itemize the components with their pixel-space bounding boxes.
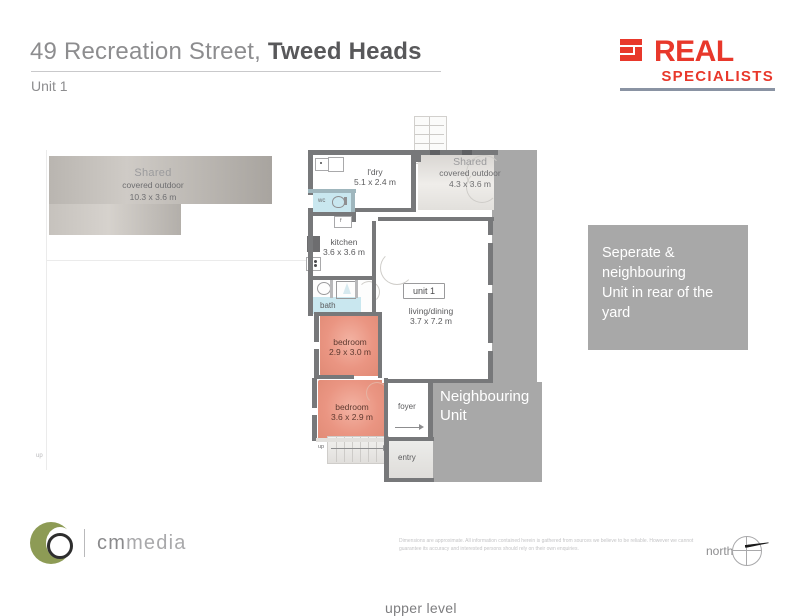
cmmedia-word-b: media [126,532,186,554]
title-street: 49 Recreation Street, [30,38,261,65]
brand-tagline: SPECIALISTS [620,68,775,85]
page-title: 49 Recreation Street, Tweed Heads [30,38,422,66]
cmmedia-mark-icon [30,522,72,564]
real-specialists-logo: REAL SPECIALISTS [620,36,775,92]
kitchen-label: kitchen 3.6 x 3.6 m [313,237,375,257]
fridge-label: f [340,218,342,224]
door-arc-icon [358,281,380,303]
north-indicator: north [706,536,762,566]
cmmedia-wordmark: cmmedia [97,532,187,555]
room-sub: covered outdoor [424,168,516,179]
room-name: bedroom [320,337,380,347]
north-label: north [706,544,733,558]
living-dining-room [382,221,492,383]
yard-boundary-line [46,150,47,470]
laundry-tub-icon [315,158,329,171]
logo-divider [84,529,85,557]
shower-spray-icon [343,283,351,294]
bath-label: bath [320,301,336,310]
floorplan-page: 49 Recreation Street, Tweed Heads Unit 1… [0,0,800,600]
brand-name: REAL [654,37,734,67]
room-dims: 5.1 x 2.4 m [340,177,410,187]
basin-icon [317,282,331,295]
shared-covered-outdoor-left-label: Shared covered outdoor 10.3 x 3.6 m [58,167,248,203]
stair-direction-line [331,448,385,449]
cistern-icon [344,197,347,205]
room-name: living/dining [395,306,467,316]
room-name: kitchen [313,237,375,247]
living-dining-label: living/dining 3.7 x 7.2 m [395,306,467,326]
room-name: l'dry [340,167,410,177]
unit-subtitle: Unit 1 [31,78,68,94]
compass-icon [732,536,762,566]
bedroom-1-label: bedroom 2.9 x 3.0 m [320,337,380,357]
washer-icon [328,157,344,172]
room-dims: 10.3 x 3.6 m [58,191,248,203]
room-dims: 3.6 x 3.6 m [313,247,375,257]
note-text: Seperate & neighbouring Unit in rear of … [588,225,748,323]
fridge-icon [334,216,352,228]
title-underline [31,71,441,72]
room-dims: 3.7 x 7.2 m [395,316,467,326]
shared-covered-outdoor-right-label: Shared covered outdoor 4.3 x 3.6 m [424,157,516,190]
yard-up-label: up [36,453,43,459]
room-dims: 2.9 x 3.0 m [320,347,380,357]
room-sub: covered outdoor [58,179,248,191]
real-logo-mark-icon [620,39,650,66]
cmmedia-logo: cmmedia [30,522,187,564]
foyer-direction-line [395,427,421,428]
entry-label: entry [398,453,416,462]
title-suburb: Tweed Heads [268,38,422,65]
room-dims: 3.6 x 2.9 m [318,412,386,422]
room-name: Shared [58,167,248,179]
neighbouring-unit-label: Neighbouring Unit [440,387,529,425]
foyer-label: foyer [398,402,416,411]
yard-boundary-line-top [46,260,314,261]
room-dims: 4.3 x 3.6 m [424,179,516,190]
foyer-direction-arrow-icon [419,424,424,430]
bedroom-2-label: bedroom 3.6 x 2.9 m [318,402,386,422]
shared-covered-outdoor-left-area-lower [49,204,181,235]
room-name: Shared [424,157,516,168]
door-arc-icon [380,251,414,285]
unit-badge: unit 1 [403,283,445,299]
disclaimer-text: Dimensions are approximate. All informat… [399,538,704,553]
level-caption: upper level [385,600,457,616]
wc-label: wc [318,198,325,204]
cmmedia-word-a: cm [97,532,126,554]
brand-underline-bar [620,88,775,91]
laundry-label: l'dry 5.1 x 2.4 m [340,167,410,187]
stair-up-label: up [318,444,324,450]
neighbouring-unit-note: Seperate & neighbouring Unit in rear of … [588,225,748,350]
